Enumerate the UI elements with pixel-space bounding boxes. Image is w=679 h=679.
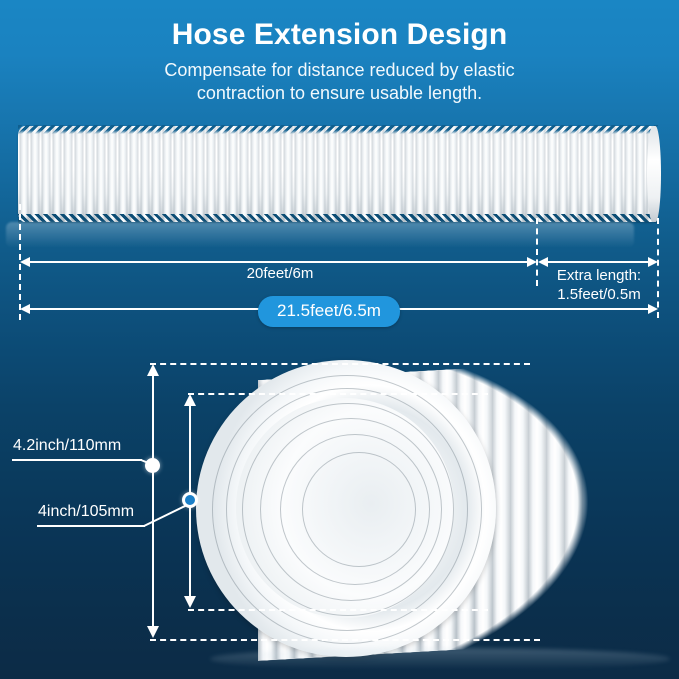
total-length-badge: 21.5feet/6.5m: [258, 296, 400, 327]
dimension-arrow-total-left: [20, 304, 30, 314]
infographic-root: Hose Extension Design Compensate for dis…: [0, 0, 679, 679]
label-extra-length-line1: Extra length:: [541, 266, 657, 286]
hose-corrugated-body: [18, 126, 658, 222]
page-subtitle: Compensate for distance reduced by elast…: [125, 59, 555, 107]
dimension-arrow-base-left: [20, 257, 30, 267]
hose-top-edge-texture: [18, 125, 658, 134]
diameter-arrow-inner-bottom: [184, 596, 196, 608]
dimension-extension-middle: [536, 218, 538, 286]
callout-underline-outer: [12, 459, 142, 461]
label-inner-diameter: 4inch/105mm: [38, 503, 134, 521]
label-outer-diameter: 4.2inch/110mm: [13, 437, 121, 455]
callout-underline-inner: [37, 525, 145, 527]
diameter-arrow-outer-bottom: [147, 626, 159, 638]
dimension-arrow-base-right: [527, 257, 537, 267]
diameter-arrow-outer-top: [147, 364, 159, 376]
label-base-length: 20feet/6m: [160, 264, 400, 284]
label-extra-length-line2: 1.5feet/0.5m: [541, 285, 657, 305]
dimension-line-extra-length: [544, 261, 652, 263]
header: Hose Extension Design Compensate for dis…: [0, 0, 679, 106]
page-title: Hose Extension Design: [0, 0, 679, 53]
callout-leader-inner: [144, 503, 190, 527]
diameter-extension-outer-top: [150, 363, 530, 365]
white-dot-marker: [145, 458, 160, 473]
hose-ring: [302, 452, 416, 567]
dimension-extension-right: [657, 218, 659, 318]
blue-dot-marker: [182, 492, 198, 508]
dimension-arrow-total-right: [648, 304, 658, 314]
diameter-extension-inner-bottom: [188, 609, 488, 611]
diameter-arrow-inner-top: [184, 394, 196, 406]
dimension-line-base-length: [28, 261, 530, 263]
diameter-line-outer: [152, 368, 154, 634]
diameter-extension-inner-top: [188, 393, 488, 395]
diameter-extension-outer-bottom: [150, 639, 540, 641]
hose-length-illustration: [18, 126, 658, 222]
hose-reflection: [6, 222, 634, 248]
hose-open-end: [196, 360, 496, 657]
hose-diameter-illustration: [196, 360, 679, 660]
hose-diameter-reflection: [210, 648, 670, 670]
